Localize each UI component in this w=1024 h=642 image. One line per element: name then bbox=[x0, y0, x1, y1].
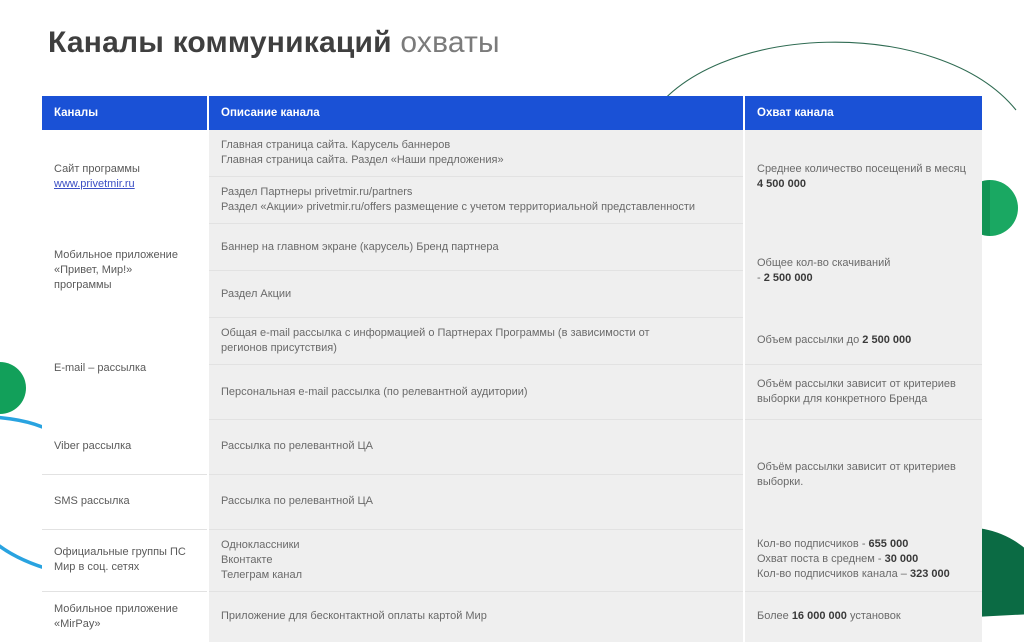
table-header-row: Каналы Описание канала Охват канала bbox=[42, 96, 982, 130]
reach-prefix: - bbox=[757, 272, 761, 284]
description-line: Телеграм канал bbox=[221, 568, 731, 583]
page-title-strong: Каналы коммуникаций bbox=[48, 26, 392, 59]
channel-label: программы bbox=[54, 278, 195, 293]
channel-label: Мобильное приложение bbox=[54, 602, 195, 617]
description-cell: Раздел Партнеры privetmir.ru/partners Ра… bbox=[208, 177, 744, 224]
table-row: E-mail – рассылка Общая e-mail рассылка … bbox=[42, 318, 982, 365]
table-row: Мобильное приложение «Привет, Мир!» прог… bbox=[42, 224, 982, 271]
channel-label: Viber рассылка bbox=[54, 439, 195, 454]
channel-cell-mirpay: Мобильное приложение «MirPay» bbox=[42, 591, 208, 642]
description-cell: Приложение для бесконтактной оплаты карт… bbox=[208, 591, 744, 642]
reach-value: 323 000 bbox=[910, 568, 950, 580]
reach-line: Кол-во подписчиков канала – 323 000 bbox=[757, 567, 970, 582]
description-line: Рассылка по релевантной ЦА bbox=[221, 439, 731, 454]
description-line: Раздел Акции bbox=[221, 287, 731, 302]
reach-cell-email-mass: Объем рассылки до 2 500 000 bbox=[744, 318, 982, 365]
channel-label: Официальные группы ПС bbox=[54, 545, 195, 560]
channel-cell-site: Сайт программы www.privetmir.ru bbox=[42, 130, 208, 224]
table-row: Сайт программы www.privetmir.ru Главная … bbox=[42, 130, 982, 177]
reach-line: Охват поста в среднем - 30 000 bbox=[757, 552, 970, 567]
reach-value: 30 000 bbox=[885, 553, 919, 565]
reach-cell-site: Среднее количество посещений в месяц 4 5… bbox=[744, 130, 982, 224]
channel-label: Мир в соц. сетях bbox=[54, 560, 195, 575]
description-cell: Рассылка по релевантной ЦА bbox=[208, 474, 744, 529]
channel-label: E-mail – рассылка bbox=[54, 361, 195, 376]
channel-label: «Привет, Мир!» bbox=[54, 263, 195, 278]
description-line: Раздел Партнеры privetmir.ru/partners bbox=[221, 185, 731, 200]
reach-text: выборки. bbox=[757, 475, 970, 490]
description-line: регионов присутствия) bbox=[221, 341, 731, 356]
table-row: Viber рассылка Рассылка по релевантной Ц… bbox=[42, 420, 982, 475]
reach-text: выборки для конкретного Бренда bbox=[757, 392, 970, 407]
channel-cell-social: Официальные группы ПС Мир в соц. сетях bbox=[42, 529, 208, 591]
description-line: Главная страница сайта. Раздел «Наши пре… bbox=[221, 153, 731, 168]
description-cell: Главная страница сайта. Карусель баннеро… bbox=[208, 130, 744, 177]
reach-text: Охват поста в среднем - bbox=[757, 553, 882, 565]
reach-value: 2 500 000 bbox=[862, 334, 911, 346]
privetmir-link[interactable]: www.privetmir.ru bbox=[54, 178, 135, 190]
reach-cell-viber-sms: Объём рассылки зависит от критериев выбо… bbox=[744, 420, 982, 530]
description-cell: Общая e-mail рассылка с информацией о Па… bbox=[208, 318, 744, 365]
description-line: Главная страница сайта. Карусель баннеро… bbox=[221, 138, 731, 153]
reach-text: Кол-во подписчиков - bbox=[757, 538, 865, 550]
reach-value: 655 000 bbox=[869, 538, 909, 550]
table-row: Мобильное приложение «MirPay» Приложение… bbox=[42, 591, 982, 642]
reach-value: 2 500 000 bbox=[764, 272, 813, 284]
reach-value: 16 000 000 bbox=[792, 610, 847, 622]
reach-cell-mirpay: Более 16 000 000 установок bbox=[744, 591, 982, 642]
reach-text: Кол-во подписчиков канала – bbox=[757, 568, 907, 580]
channel-label: Сайт программы bbox=[54, 162, 195, 177]
channel-cell-sms: SMS рассылка bbox=[42, 474, 208, 529]
description-line: Вконтакте bbox=[221, 553, 731, 568]
reach-cell-email-personal: Объём рассылки зависит от критериев выбо… bbox=[744, 365, 982, 420]
reach-text: Общее кол-во скачиваний bbox=[757, 256, 970, 271]
description-line: Приложение для бесконтактной оплаты карт… bbox=[221, 609, 731, 624]
reach-value: 4 500 000 bbox=[757, 178, 806, 190]
reach-text: Объем рассылки до bbox=[757, 334, 859, 346]
description-cell: Персональная e-mail рассылка (по релеван… bbox=[208, 365, 744, 420]
description-cell: Рассылка по релевантной ЦА bbox=[208, 420, 744, 475]
channel-cell-viber: Viber рассылка bbox=[42, 420, 208, 475]
header-reach: Охват канала bbox=[744, 96, 982, 130]
reach-text: Объём рассылки зависит от критериев bbox=[757, 377, 970, 392]
reach-cell-mobile-app: Общее кол-во скачиваний - 2 500 000 bbox=[744, 224, 982, 318]
page-title-light: охваты bbox=[400, 26, 499, 59]
header-channels: Каналы bbox=[42, 96, 208, 130]
description-cell: Раздел Акции bbox=[208, 271, 744, 318]
description-line: Общая e-mail рассылка с информацией о Па… bbox=[221, 326, 731, 341]
reach-text: Объём рассылки зависит от критериев bbox=[757, 460, 970, 475]
table-row: Официальные группы ПС Мир в соц. сетях О… bbox=[42, 529, 982, 591]
channels-table-wrap: Каналы Описание канала Охват канала Сайт… bbox=[42, 96, 982, 642]
description-cell: Баннер на главном экране (карусель) Брен… bbox=[208, 224, 744, 271]
channel-cell-email: E-mail – рассылка bbox=[42, 318, 208, 420]
description-line: Одноклассники bbox=[221, 538, 731, 553]
channel-label: «MirPay» bbox=[54, 617, 195, 632]
description-cell: Одноклассники Вконтакте Телеграм канал bbox=[208, 529, 744, 591]
reach-cell-social: Кол-во подписчиков - 655 000 Охват поста… bbox=[744, 529, 982, 591]
channel-label: Мобильное приложение bbox=[54, 248, 195, 263]
channels-table: Каналы Описание канала Охват канала Сайт… bbox=[42, 96, 982, 642]
reach-line: Кол-во подписчиков - 655 000 bbox=[757, 537, 970, 552]
description-line: Рассылка по релевантной ЦА bbox=[221, 494, 731, 509]
header-description: Описание канала bbox=[208, 96, 744, 130]
description-line: Баннер на главном экране (карусель) Брен… bbox=[221, 240, 731, 255]
description-line: Раздел «Акции» privetmir.ru/offers разме… bbox=[221, 200, 731, 215]
page-title: Каналы коммуникаций охваты bbox=[48, 26, 500, 60]
reach-text: Среднее количество посещений в месяц bbox=[757, 163, 966, 175]
decor-green-halfcircle bbox=[0, 362, 26, 414]
reach-suffix: установок bbox=[850, 610, 901, 622]
channel-cell-mobile-app: Мобильное приложение «Привет, Мир!» прог… bbox=[42, 224, 208, 318]
channel-label: SMS рассылка bbox=[54, 494, 195, 509]
description-line: Персональная e-mail рассылка (по релеван… bbox=[221, 385, 731, 400]
reach-prefix: Более bbox=[757, 610, 789, 622]
